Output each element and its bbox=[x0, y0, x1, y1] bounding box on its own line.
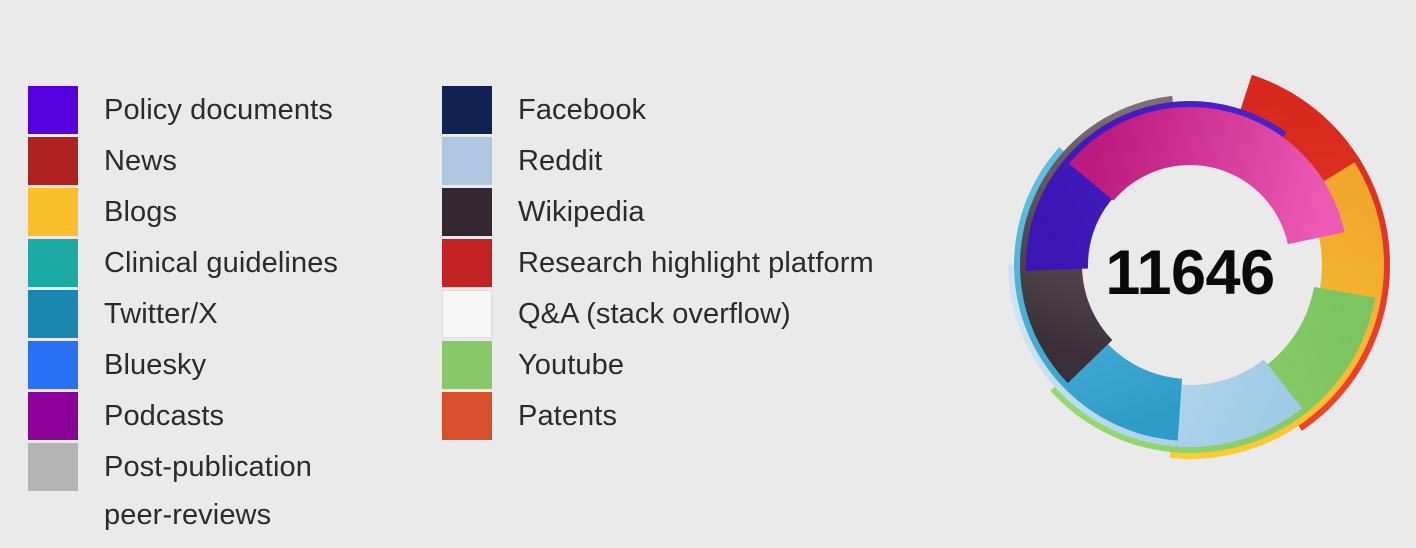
legend-label-podcasts: Podcasts bbox=[104, 392, 224, 440]
legend-swatch-youtube bbox=[442, 341, 492, 389]
legend-swatch-bluesky bbox=[28, 341, 78, 389]
legend-swatch-post-publication-peer-reviews bbox=[28, 443, 78, 491]
legend-swatch-twitter-x bbox=[28, 290, 78, 338]
legend-item-wikipedia[interactable]: Wikipedia bbox=[442, 188, 922, 239]
legend-item-reddit[interactable]: Reddit bbox=[442, 137, 922, 188]
legend-swatch-reddit bbox=[442, 137, 492, 185]
altmetric-donut[interactable]: 11646 bbox=[975, 58, 1405, 488]
legend-label-blogs: Blogs bbox=[104, 188, 177, 236]
legend-swatch-qa-stack-overflow bbox=[442, 290, 492, 338]
legend-label-qa-stack-overflow: Q&A (stack overflow) bbox=[518, 290, 791, 338]
legend: Policy documents News Blogs Clinical gui… bbox=[0, 0, 950, 548]
legend-item-facebook[interactable]: Facebook bbox=[442, 86, 922, 137]
legend-item-qa-stack-overflow[interactable]: Q&A (stack overflow) bbox=[442, 290, 922, 341]
legend-label-bluesky: Bluesky bbox=[104, 341, 206, 389]
legend-item-policy-documents[interactable]: Policy documents bbox=[28, 86, 418, 137]
legend-item-youtube[interactable]: Youtube bbox=[442, 341, 922, 392]
donut-center-hole bbox=[1090, 165, 1290, 365]
legend-label-news: News bbox=[104, 137, 177, 185]
legend-item-blogs[interactable]: Blogs bbox=[28, 188, 418, 239]
legend-swatch-podcasts bbox=[28, 392, 78, 440]
legend-item-clinical-guidelines[interactable]: Clinical guidelines bbox=[28, 239, 418, 290]
legend-item-bluesky[interactable]: Bluesky bbox=[28, 341, 418, 392]
legend-swatch-facebook bbox=[442, 86, 492, 134]
legend-label-reddit: Reddit bbox=[518, 137, 602, 185]
legend-swatch-clinical-guidelines bbox=[28, 239, 78, 287]
legend-label-patents: Patents bbox=[518, 392, 617, 440]
legend-swatch-policy-documents bbox=[28, 86, 78, 134]
donut-svg bbox=[975, 58, 1405, 488]
legend-label-clinical-guidelines: Clinical guidelines bbox=[104, 239, 338, 287]
legend-column-left: Policy documents News Blogs Clinical gui… bbox=[28, 86, 418, 545]
legend-item-patents[interactable]: Patents bbox=[442, 392, 922, 443]
legend-label-youtube: Youtube bbox=[518, 341, 624, 389]
altmetric-badge-figure: Policy documents News Blogs Clinical gui… bbox=[0, 0, 1416, 548]
legend-label-research-highlight-platform: Research highlight platform bbox=[518, 239, 874, 287]
legend-swatch-blogs bbox=[28, 188, 78, 236]
legend-item-podcasts[interactable]: Podcasts bbox=[28, 392, 418, 443]
legend-item-news[interactable]: News bbox=[28, 137, 418, 188]
legend-label-wikipedia: Wikipedia bbox=[518, 188, 645, 236]
legend-column-right: Facebook Reddit Wikipedia Research highl… bbox=[442, 86, 922, 443]
legend-item-post-publication-peer-reviews[interactable]: Post-publication peer-reviews bbox=[28, 443, 418, 545]
legend-item-research-highlight-platform[interactable]: Research highlight platform bbox=[442, 239, 922, 290]
legend-label-facebook: Facebook bbox=[518, 86, 646, 134]
legend-swatch-research-highlight-platform bbox=[442, 239, 492, 287]
legend-label-policy-documents: Policy documents bbox=[104, 86, 333, 134]
legend-label-twitter-x: Twitter/X bbox=[104, 290, 218, 338]
legend-label-post-publication-peer-reviews: Post-publication peer-reviews bbox=[104, 443, 312, 539]
legend-swatch-patents bbox=[442, 392, 492, 440]
legend-swatch-news bbox=[28, 137, 78, 185]
legend-swatch-wikipedia bbox=[442, 188, 492, 236]
legend-item-twitter-x[interactable]: Twitter/X bbox=[28, 290, 418, 341]
